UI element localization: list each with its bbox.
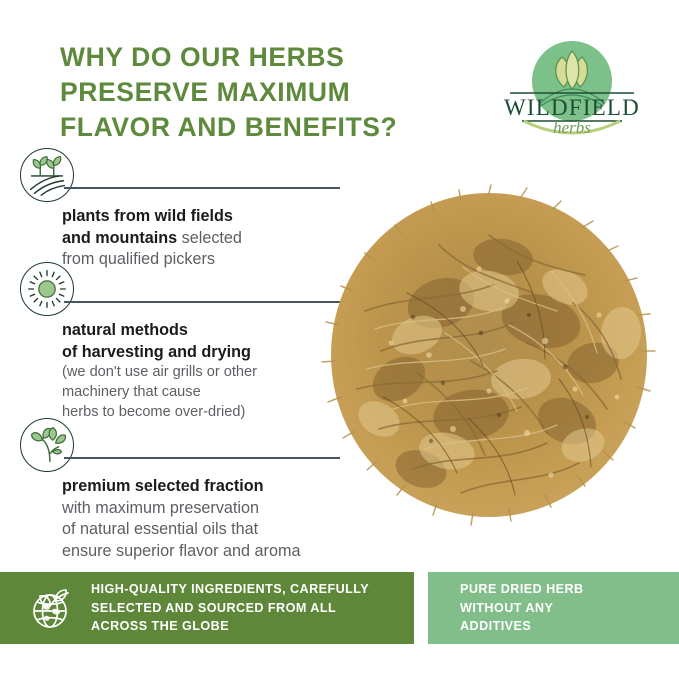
feature-text: natural methods of harvesting and drying… bbox=[62, 320, 340, 423]
feature-block-wild-fields: plants from wild fields and mountains se… bbox=[20, 148, 340, 271]
feature-header bbox=[20, 148, 340, 204]
feature-emphasis: premium selected fraction bbox=[62, 477, 264, 495]
feature-divider bbox=[64, 301, 340, 303]
feature-divider bbox=[64, 457, 340, 459]
feature-body: ensure superior flavor and aroma bbox=[62, 542, 300, 560]
dried-herb-pile-photo bbox=[321, 183, 657, 527]
feature-emphasis: natural methods bbox=[62, 321, 188, 339]
headline-line-1: Why do our herbs bbox=[60, 40, 480, 75]
banner-high-quality-ingredients: High-quality ingredients, carefully sele… bbox=[0, 572, 414, 644]
banner-pure-dried-herb: Pure dried herb without any additives bbox=[428, 572, 679, 644]
feature-text: plants from wild fields and mountains se… bbox=[62, 206, 340, 271]
sun-icon bbox=[20, 262, 74, 316]
feature-header bbox=[20, 418, 340, 474]
logo-script-text: herbs bbox=[553, 118, 591, 137]
headline-line-2: preserve maximum bbox=[60, 75, 480, 110]
infographic-page: Why do our herbs preserve maximum flavor… bbox=[0, 0, 679, 679]
banner-line: additives bbox=[460, 617, 584, 636]
brand-logo: WILDFIELD herbs bbox=[498, 33, 646, 137]
banner-text: Pure dried herb without any additives bbox=[460, 580, 584, 636]
page-title: Why do our herbs preserve maximum flavor… bbox=[60, 40, 480, 146]
banner-line: High-quality ingredients, carefully bbox=[91, 580, 369, 599]
banner-line: Pure dried herb bbox=[460, 580, 584, 599]
feature-emphasis: of harvesting and drying bbox=[62, 343, 251, 361]
banner-line: across the globe bbox=[91, 617, 369, 636]
globe-leaf-icon bbox=[26, 582, 78, 634]
feature-header bbox=[20, 262, 340, 318]
feature-block-premium-fraction: premium selected fraction with maximum p… bbox=[20, 418, 340, 562]
field-sprouts-icon bbox=[20, 148, 74, 202]
feature-body: of natural essential oils that bbox=[62, 520, 258, 538]
feature-emphasis: plants from wild fields bbox=[62, 207, 233, 225]
herb-sprig-icon bbox=[20, 418, 74, 472]
logo-brand-text: WILDFIELD bbox=[504, 95, 640, 120]
feature-emphasis: and mountains bbox=[62, 229, 177, 247]
feature-divider bbox=[64, 187, 340, 189]
feature-body: selected bbox=[177, 229, 242, 247]
banner-line: selected and sourced from all bbox=[91, 599, 369, 618]
headline-line-3: flavor and benefits? bbox=[60, 110, 480, 145]
banner-text: High-quality ingredients, carefully sele… bbox=[91, 580, 369, 636]
feature-text: premium selected fraction with maximum p… bbox=[62, 476, 340, 562]
feature-body: with maximum preservation bbox=[62, 499, 259, 517]
feature-block-natural-methods: natural methods of harvesting and drying… bbox=[20, 262, 340, 423]
feature-note: (we don't use air grills or other bbox=[62, 363, 340, 383]
feature-note: machinery that cause bbox=[62, 383, 340, 403]
banner-line: without any bbox=[460, 599, 584, 618]
